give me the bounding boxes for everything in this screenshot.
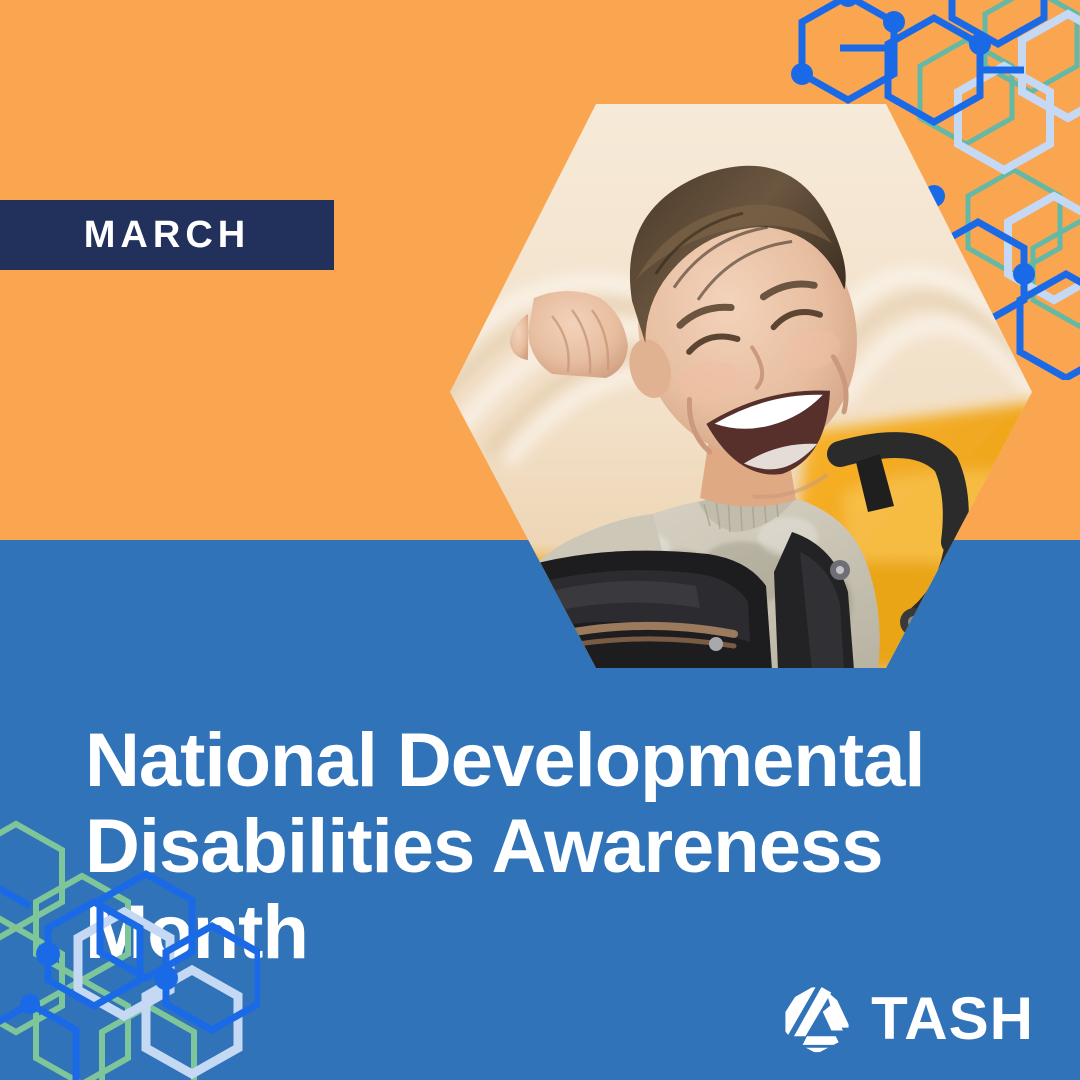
page-title: National Developmental Disabilities Awar… [85,718,985,976]
poster-canvas: MARCH National Developmental Disabilitie… [0,0,1080,1080]
month-badge: MARCH [0,200,334,270]
month-badge-label: MARCH [84,216,250,254]
feature-photo-hexagon [448,102,1034,670]
tash-wordmark: TASH [871,989,1034,1049]
tash-logo[interactable]: TASH [781,982,1034,1056]
tash-hexagon-logo-icon [781,983,853,1055]
